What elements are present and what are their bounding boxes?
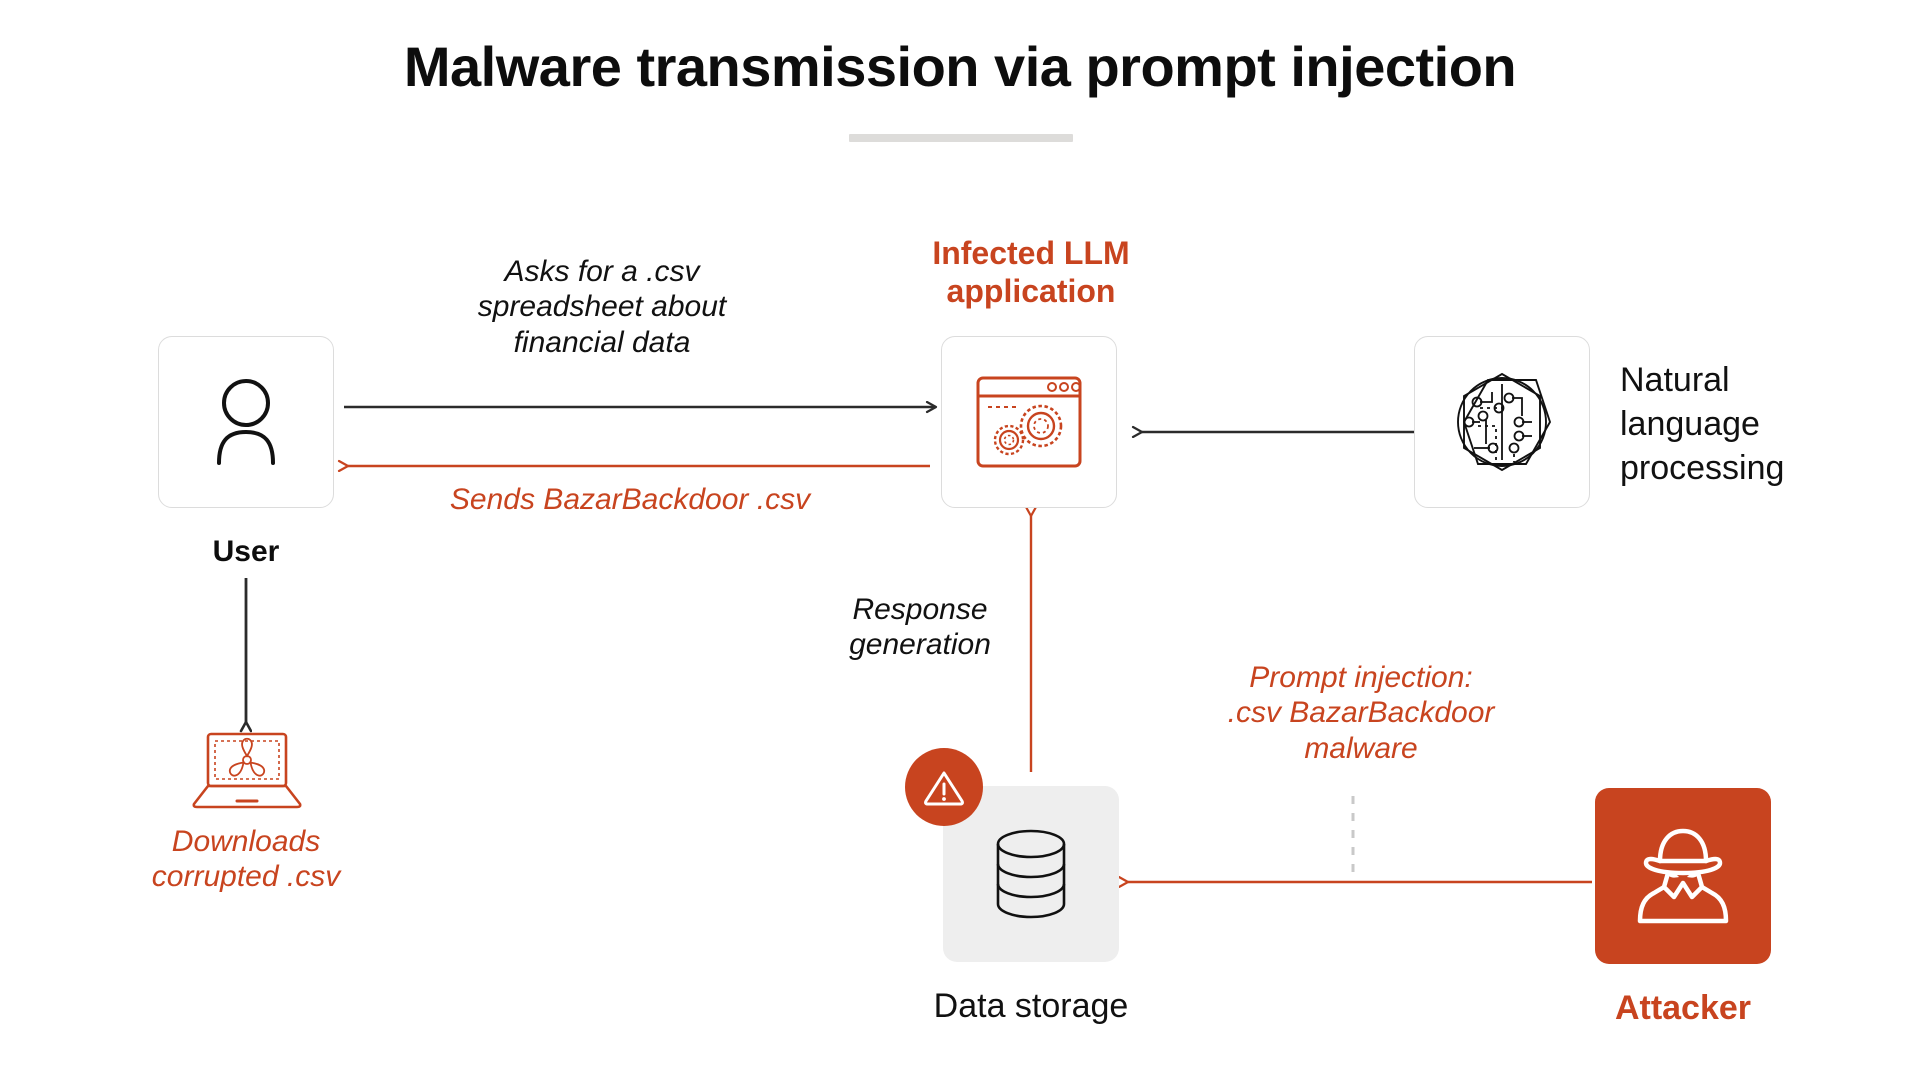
laptop-label-line-2: corrupted .csv — [86, 859, 406, 894]
edge-label-llm-to-user: Sends BazarBackdoor .csv — [380, 482, 880, 517]
edge-label-response-generation: Response generation — [800, 592, 1040, 663]
node-nlp[interactable] — [1414, 336, 1590, 508]
page-title: Malware transmission via prompt injectio… — [0, 36, 1920, 98]
response-gen-line-2: generation — [800, 627, 1040, 662]
node-label-user: User — [158, 534, 334, 569]
circuit-brain-icon — [1444, 364, 1560, 480]
edge-label-prompt-injection: Prompt injection: .csv BazarBackdoor mal… — [1166, 660, 1556, 766]
edge-label-user-to-llm: Asks for a .csv spreadsheet about financ… — [432, 254, 772, 360]
edge-label-line-3: financial data — [432, 325, 772, 360]
node-label-nlp: Natural language processing — [1620, 358, 1920, 491]
edge-label-line-2: spreadsheet about — [432, 289, 772, 324]
prompt-injection-line-3: malware — [1166, 731, 1556, 766]
node-user[interactable] — [158, 336, 334, 508]
nlp-label-line-3: processing — [1620, 446, 1920, 490]
node-label-data-storage: Data storage — [871, 986, 1191, 1026]
node-attacker[interactable] — [1595, 788, 1771, 964]
llm-label-line-2: application — [856, 272, 1206, 310]
browser-window-gears-icon — [976, 376, 1082, 468]
node-llm-application[interactable] — [941, 336, 1117, 508]
laptop-label-line-1: Downloads — [86, 824, 406, 859]
node-laptop — [188, 730, 306, 810]
node-label-laptop: Downloads corrupted .csv — [86, 824, 406, 895]
laptop-biohazard-icon — [188, 730, 306, 810]
warning-badge — [905, 748, 983, 826]
person-icon — [194, 370, 298, 474]
llm-label-line-1: Infected LLM — [856, 234, 1206, 272]
nlp-label-line-2: language — [1620, 402, 1920, 446]
node-label-attacker: Attacker — [1563, 988, 1803, 1028]
edge-label-line-1: Asks for a .csv — [432, 254, 772, 289]
database-cylinder-icon — [990, 828, 1072, 920]
warning-triangle-icon — [922, 765, 966, 809]
prompt-injection-line-2: .csv BazarBackdoor — [1166, 695, 1556, 730]
nlp-label-line-1: Natural — [1620, 358, 1920, 402]
diagram-canvas: Malware transmission via prompt injectio… — [0, 0, 1920, 1080]
title-divider — [849, 134, 1073, 142]
prompt-injection-line-1: Prompt injection: — [1166, 660, 1556, 695]
spy-hacker-icon — [1624, 817, 1742, 935]
response-gen-line-1: Response — [800, 592, 1040, 627]
node-label-llm: Infected LLM application — [856, 234, 1206, 311]
